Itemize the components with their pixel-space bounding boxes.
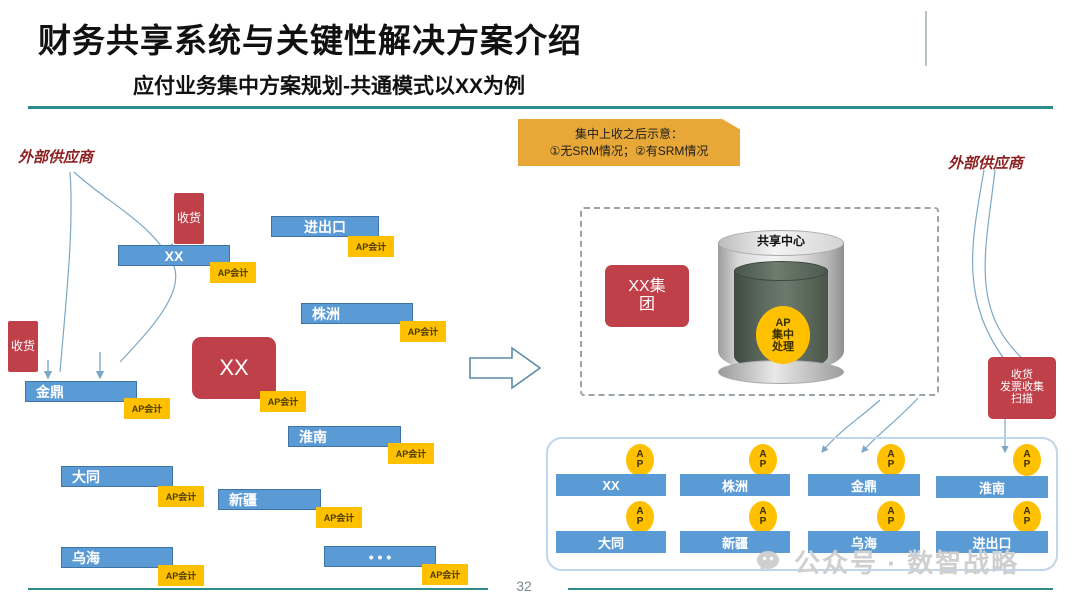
- left-unit-bar-5: 大同: [61, 466, 173, 487]
- entity-label-r0c2: 金鼎: [851, 476, 877, 495]
- group-company-line-2: 团: [628, 296, 665, 314]
- header-vertical-accent: [925, 11, 927, 66]
- left-center-company-box: XX: [192, 337, 276, 399]
- wechat-icon: [756, 549, 786, 575]
- header-divider: [28, 106, 1053, 109]
- ap-circle-letter-p: P: [888, 460, 895, 471]
- left-unit-label-3: 金鼎: [36, 382, 64, 402]
- group-company-box: XX集 团: [605, 265, 689, 327]
- ap-circle-letter-p: P: [637, 517, 644, 528]
- ap-tag-4: AP会计: [388, 443, 434, 464]
- ap-circle-r0c2: A P: [877, 444, 905, 476]
- entity-bar-r0c2: 金鼎: [808, 474, 920, 496]
- page-title: 财务共享系统与关键性解决方案介绍: [38, 14, 582, 62]
- watermark-text: 公众号 · 数智战略: [794, 543, 1019, 580]
- ap-circle-letter-p: P: [1024, 460, 1031, 471]
- callout-line-1: 集中上收之后示意：: [575, 126, 683, 142]
- entity-label-r1c0: 大同: [598, 533, 624, 552]
- ap-core-line-3: 处理: [772, 341, 794, 353]
- entity-label-r0c0: XX: [602, 478, 619, 493]
- entity-label-r0c1: 株洲: [722, 476, 748, 495]
- ap-tag-0: AP会计: [210, 262, 256, 283]
- receipt-box-1: 收货: [174, 193, 204, 244]
- ap-circle-r1c2: A P: [877, 501, 905, 533]
- receipt-box-2: 收货: [8, 321, 38, 372]
- left-unit-bar-8: • • •: [324, 546, 436, 567]
- scan-box-line-3: 扫描: [1000, 394, 1044, 406]
- supplier-label-right: 外部供应商: [948, 152, 1023, 173]
- ap-circle-r0c1: A P: [749, 444, 777, 476]
- ap-tag-5: AP会计: [158, 486, 204, 507]
- ap-core-ellipse: AP 集中 处理: [756, 306, 810, 364]
- entity-bar-r0c0: XX: [556, 474, 666, 496]
- left-unit-label-1: 进出口: [304, 217, 346, 237]
- ap-tag-3: AP会计: [124, 398, 170, 419]
- left-unit-bar-6: 新疆: [218, 489, 321, 510]
- left-unit-bar-3: 金鼎: [25, 381, 137, 402]
- footer-rule-right: [568, 588, 1053, 590]
- left-unit-label-4: 淮南: [299, 427, 327, 447]
- entity-label-r1c1: 新疆: [722, 533, 748, 552]
- ap-circle-letter-p: P: [888, 517, 895, 528]
- callout-line-2: ①无SRM情况；②有SRM情况: [550, 143, 709, 159]
- right-arrow-icon: [470, 348, 540, 388]
- left-unit-label-5: 大同: [72, 467, 100, 487]
- left-unit-label-8: • • •: [369, 549, 391, 565]
- ap-tag-6: AP会计: [316, 507, 362, 528]
- ap-circle-letter-p: P: [760, 517, 767, 528]
- left-center-company-label: XX: [219, 356, 248, 380]
- receipt-box-2-label: 收货: [11, 340, 35, 353]
- receipt-box-1-label: 收货: [177, 212, 201, 225]
- ap-circle-r0c3: A P: [1013, 444, 1041, 476]
- ap-circle-letter-p: P: [1024, 517, 1031, 528]
- supplier-label-left: 外部供应商: [18, 146, 93, 167]
- slide-root: 财务共享系统与关键性解决方案介绍 应付业务集中方案规划-共通模式以XX为例 外部…: [0, 0, 1080, 608]
- ap-circle-r1c3: A P: [1013, 501, 1041, 533]
- shared-center-cylinder: 共享中心 AP 集中 处理: [718, 230, 844, 385]
- ap-tag-8: AP会计: [422, 564, 468, 585]
- cylinder-inner-top: [734, 261, 828, 281]
- entity-bar-r0c1: 株洲: [680, 474, 790, 496]
- receipt-scan-box: 收货 发票收集 扫描: [988, 357, 1056, 419]
- left-unit-label-0: XX: [165, 248, 184, 264]
- ap-circle-letter-p: P: [637, 460, 644, 471]
- ap-tag-center: AP会计: [260, 391, 306, 412]
- footer-rule-left: [28, 588, 488, 590]
- ap-circle-r0c0: A P: [626, 444, 654, 476]
- ap-tag-2: AP会计: [400, 321, 446, 342]
- left-unit-bar-1: 进出口: [271, 216, 379, 237]
- entity-bar-r0c3: 淮南: [936, 476, 1048, 498]
- callout-note: 集中上收之后示意： ①无SRM情况；②有SRM情况: [518, 119, 740, 166]
- page-number: 32: [494, 578, 554, 594]
- page-subtitle: 应付业务集中方案规划-共通模式以XX为例: [133, 70, 525, 100]
- ap-circle-letter-p: P: [760, 460, 767, 471]
- left-unit-label-2: 株洲: [312, 304, 340, 324]
- left-unit-label-6: 新疆: [229, 490, 257, 510]
- entity-label-r0c3: 淮南: [979, 478, 1005, 497]
- ap-tag-7: AP会计: [158, 565, 204, 586]
- ap-circle-r1c0: A P: [626, 501, 654, 533]
- ap-circle-r1c1: A P: [749, 501, 777, 533]
- left-unit-label-7: 乌海: [72, 548, 100, 568]
- entity-bar-r1c0: 大同: [556, 531, 666, 553]
- group-company-line-1: XX集: [628, 278, 665, 296]
- watermark: 公众号 · 数智战略: [756, 543, 1019, 580]
- ap-core-line-1: AP: [775, 317, 790, 329]
- cylinder-label: 共享中心: [718, 232, 844, 249]
- left-unit-bar-4: 淮南: [288, 426, 401, 447]
- left-unit-bar-7: 乌海: [61, 547, 173, 568]
- left-unit-bar-2: 株洲: [301, 303, 413, 324]
- ap-tag-1: AP会计: [348, 236, 394, 257]
- ap-core-line-2: 集中: [772, 329, 794, 341]
